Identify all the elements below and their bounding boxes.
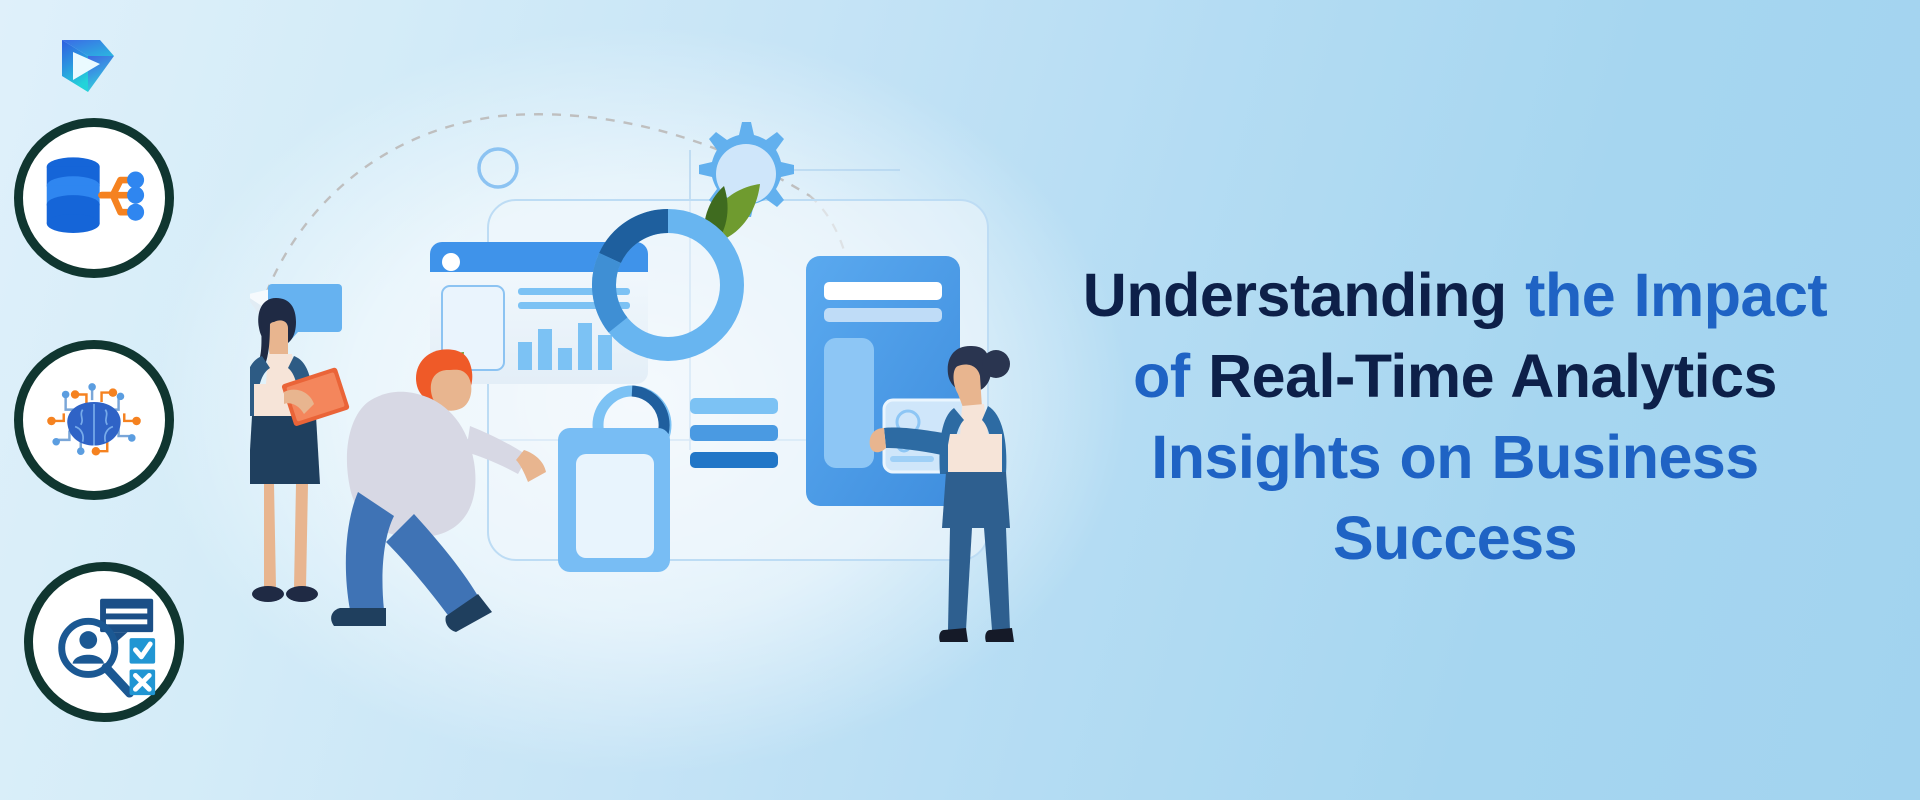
headline-line-3: Insights on Business [1010, 417, 1900, 498]
headline-seg-the-impact: the Impact [1525, 261, 1827, 329]
left-icon-rail [0, 0, 220, 800]
real-time-analytics-dashboard-illustration [250, 110, 1050, 680]
headline-seg-of: of [1133, 342, 1208, 410]
banner-root: Understanding the Impact of Real-Time An… [0, 0, 1920, 800]
headline-seg-real-time-analytics: Real-Time Analytics [1208, 342, 1777, 410]
bottom-card-stack [558, 428, 670, 572]
list-bars [690, 398, 778, 468]
page-title: Understanding the Impact of Real-Time An… [1010, 255, 1900, 580]
headline-line-1: Understanding the Impact [1010, 255, 1900, 336]
outline-circle [479, 149, 517, 187]
ai-brain-circuit-icon[interactable] [14, 340, 174, 500]
play-triangle-logo[interactable] [48, 26, 116, 98]
woman-with-tablet [250, 298, 350, 602]
headline-line-4: Success [1010, 498, 1900, 579]
headline-seg-understanding: Understanding [1083, 261, 1525, 329]
database-pipeline-icon[interactable] [14, 118, 174, 278]
user-research-insights-icon[interactable] [24, 562, 184, 722]
headline-line-2: of Real-Time Analytics [1010, 336, 1900, 417]
